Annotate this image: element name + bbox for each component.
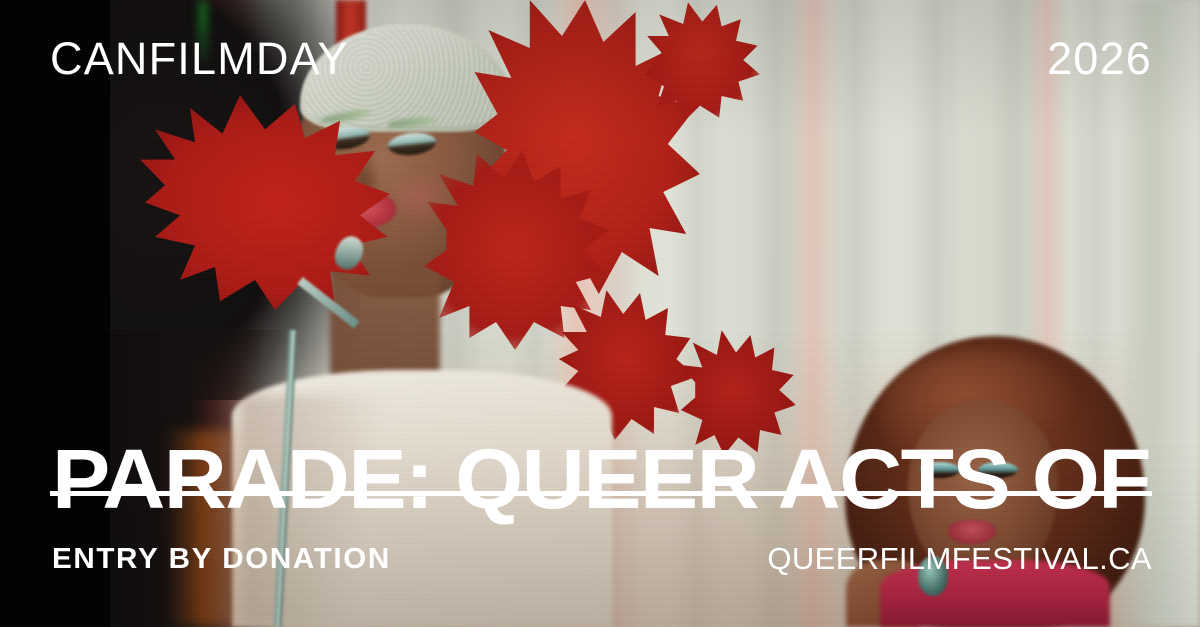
canfilmday-wordmark: CANFILMDAY xyxy=(50,36,349,81)
year-label: 2026 xyxy=(1047,36,1152,81)
website-url[interactable]: QUEERFILMFESTIVAL.CA xyxy=(767,543,1152,574)
text-overlay: CANFILMDAY 2026 PARADE: QUEER ACTS OF LO… xyxy=(0,0,1200,627)
event-title-line-1: PARADE: QUEER ACTS OF xyxy=(52,438,1200,521)
festival-promo-banner: CANFILMDAY 2026 PARADE: QUEER ACTS OF LO… xyxy=(0,0,1200,627)
admission-info: ENTRY BY DONATION xyxy=(52,545,391,574)
horizontal-divider xyxy=(50,491,1152,496)
